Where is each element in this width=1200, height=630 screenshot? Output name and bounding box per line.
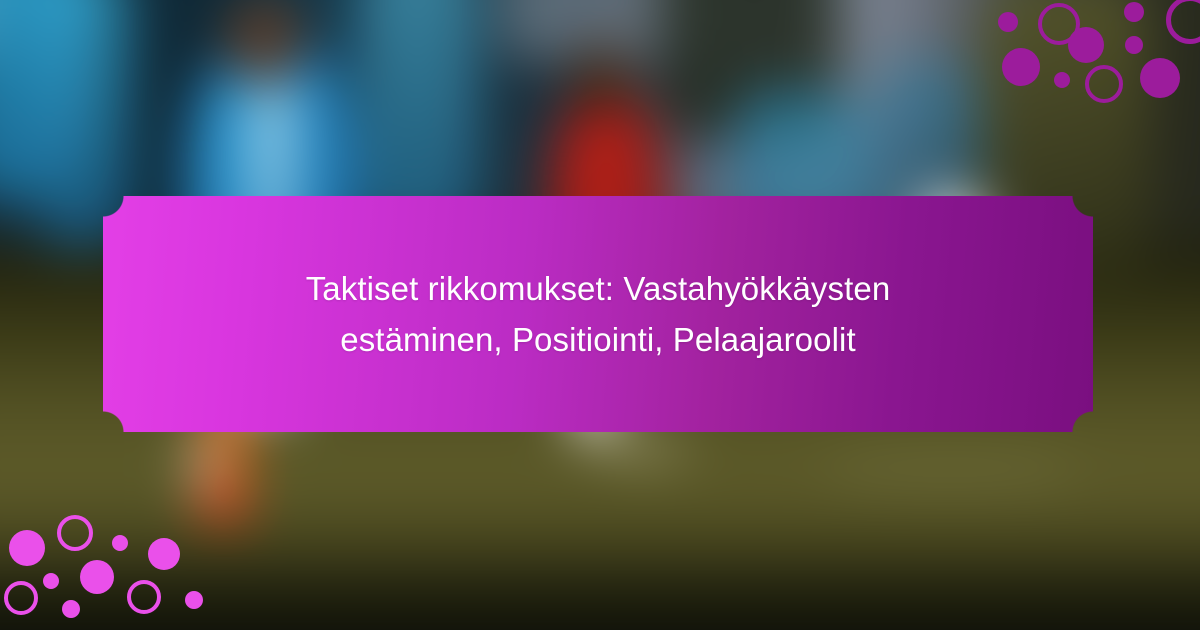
decorative-circle bbox=[112, 535, 128, 551]
page-title: Taktiset rikkomukset: Vastahyökkäysten e… bbox=[218, 263, 978, 365]
decorative-circle bbox=[998, 12, 1018, 32]
decorative-circle bbox=[1002, 48, 1040, 86]
background-ground-blur bbox=[820, 440, 1080, 500]
decorative-circle bbox=[1068, 27, 1104, 63]
circle-cluster-bottom-left bbox=[0, 495, 215, 630]
page-title-line-2: estäminen, Positiointi, Pelaajaroolit bbox=[340, 321, 855, 358]
title-banner: Taktiset rikkomukset: Vastahyökkäysten e… bbox=[103, 196, 1093, 432]
decorative-circle-outline bbox=[4, 581, 38, 615]
decorative-circle bbox=[43, 573, 59, 589]
decorative-circle bbox=[1124, 2, 1144, 22]
banner-image-canvas: Taktiset rikkomukset: Vastahyökkäysten e… bbox=[0, 0, 1200, 630]
decorative-circle bbox=[80, 560, 114, 594]
decorative-circle-outline bbox=[127, 580, 161, 614]
decorative-circle-outline bbox=[57, 515, 93, 551]
page-title-line-1: Taktiset rikkomukset: Vastahyökkäysten bbox=[306, 270, 891, 307]
decorative-circle bbox=[1140, 58, 1180, 98]
decorative-circle-outline bbox=[1166, 0, 1200, 44]
decorative-circle bbox=[1125, 36, 1143, 54]
circle-cluster-top-right bbox=[980, 0, 1200, 135]
decorative-circle bbox=[9, 530, 45, 566]
decorative-circle bbox=[1054, 72, 1070, 88]
background-ground-blur bbox=[600, 430, 690, 464]
decorative-circle bbox=[62, 600, 80, 618]
decorative-circle bbox=[185, 591, 203, 609]
background-player-figure bbox=[226, 0, 304, 84]
decorative-circle bbox=[148, 538, 180, 570]
decorative-circle-outline bbox=[1085, 65, 1123, 103]
background-player-figure bbox=[572, 45, 632, 111]
